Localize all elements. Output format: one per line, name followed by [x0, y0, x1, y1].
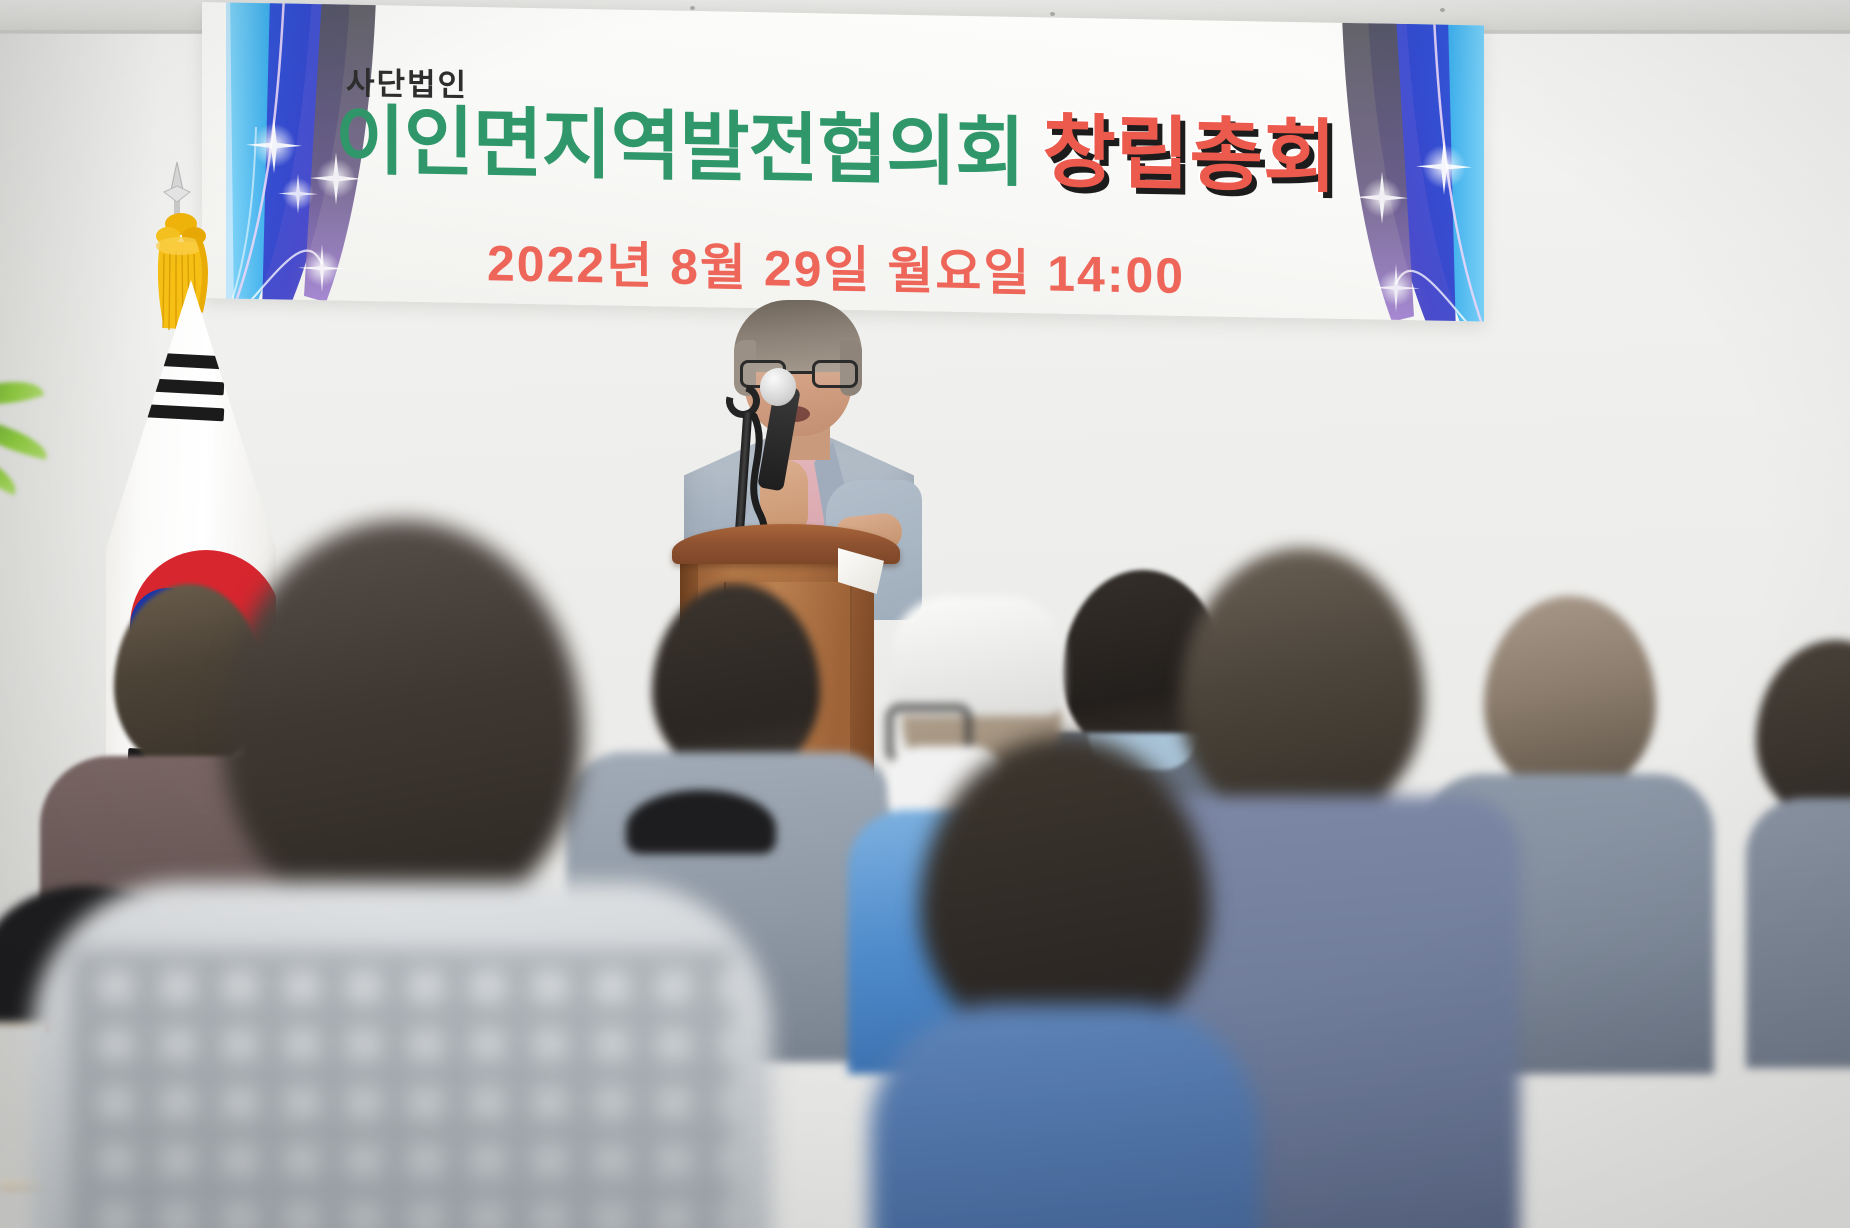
ceiling-speck [1050, 12, 1055, 16]
white-cap [892, 596, 1064, 716]
flag-trigram-bar [134, 378, 225, 396]
ceiling-speck [1440, 8, 1445, 12]
check-pattern [72, 950, 732, 1228]
banner-event-title: 창립총회 [1042, 112, 1336, 197]
flag-trigram-bar [134, 404, 225, 422]
banner-org-name: 이인면지역발전협의회 [335, 103, 1024, 192]
audience-torso [870, 1004, 1260, 1228]
banner-title-row: 이인면지역발전협의회 창립총회 [335, 99, 1337, 197]
banner-org-prefix: 사단법인 [346, 58, 468, 105]
plant-leaf [0, 447, 23, 496]
flag-trigram-bar [134, 352, 225, 370]
audience-head [1484, 596, 1656, 792]
eyeglass-lens [812, 360, 858, 388]
ceiling-speck [690, 6, 695, 10]
plant-leaf [0, 416, 52, 460]
audience-head [222, 520, 582, 920]
event-banner: 사단법인 이인면지역발전협의회 창립총회 2022년 8월 29일 월요일 14… [202, 2, 1484, 321]
conference-photo-scene: 사단법인 이인면지역발전협의회 창립총회 2022년 8월 29일 월요일 14… [0, 0, 1850, 1228]
potted-plant [0, 374, 76, 514]
plant-leaf [0, 370, 44, 415]
audience-torso [1746, 798, 1850, 1068]
audience-front-right-dark-head [880, 736, 1240, 1228]
audience-head [1756, 640, 1850, 820]
banner-datetime: 2022년 8월 29일 월요일 14:00 [487, 223, 1185, 308]
audience-far-right-edge [1756, 640, 1850, 1060]
audience-head [920, 736, 1210, 1046]
audience-front-center-check-shirt [42, 520, 742, 1228]
